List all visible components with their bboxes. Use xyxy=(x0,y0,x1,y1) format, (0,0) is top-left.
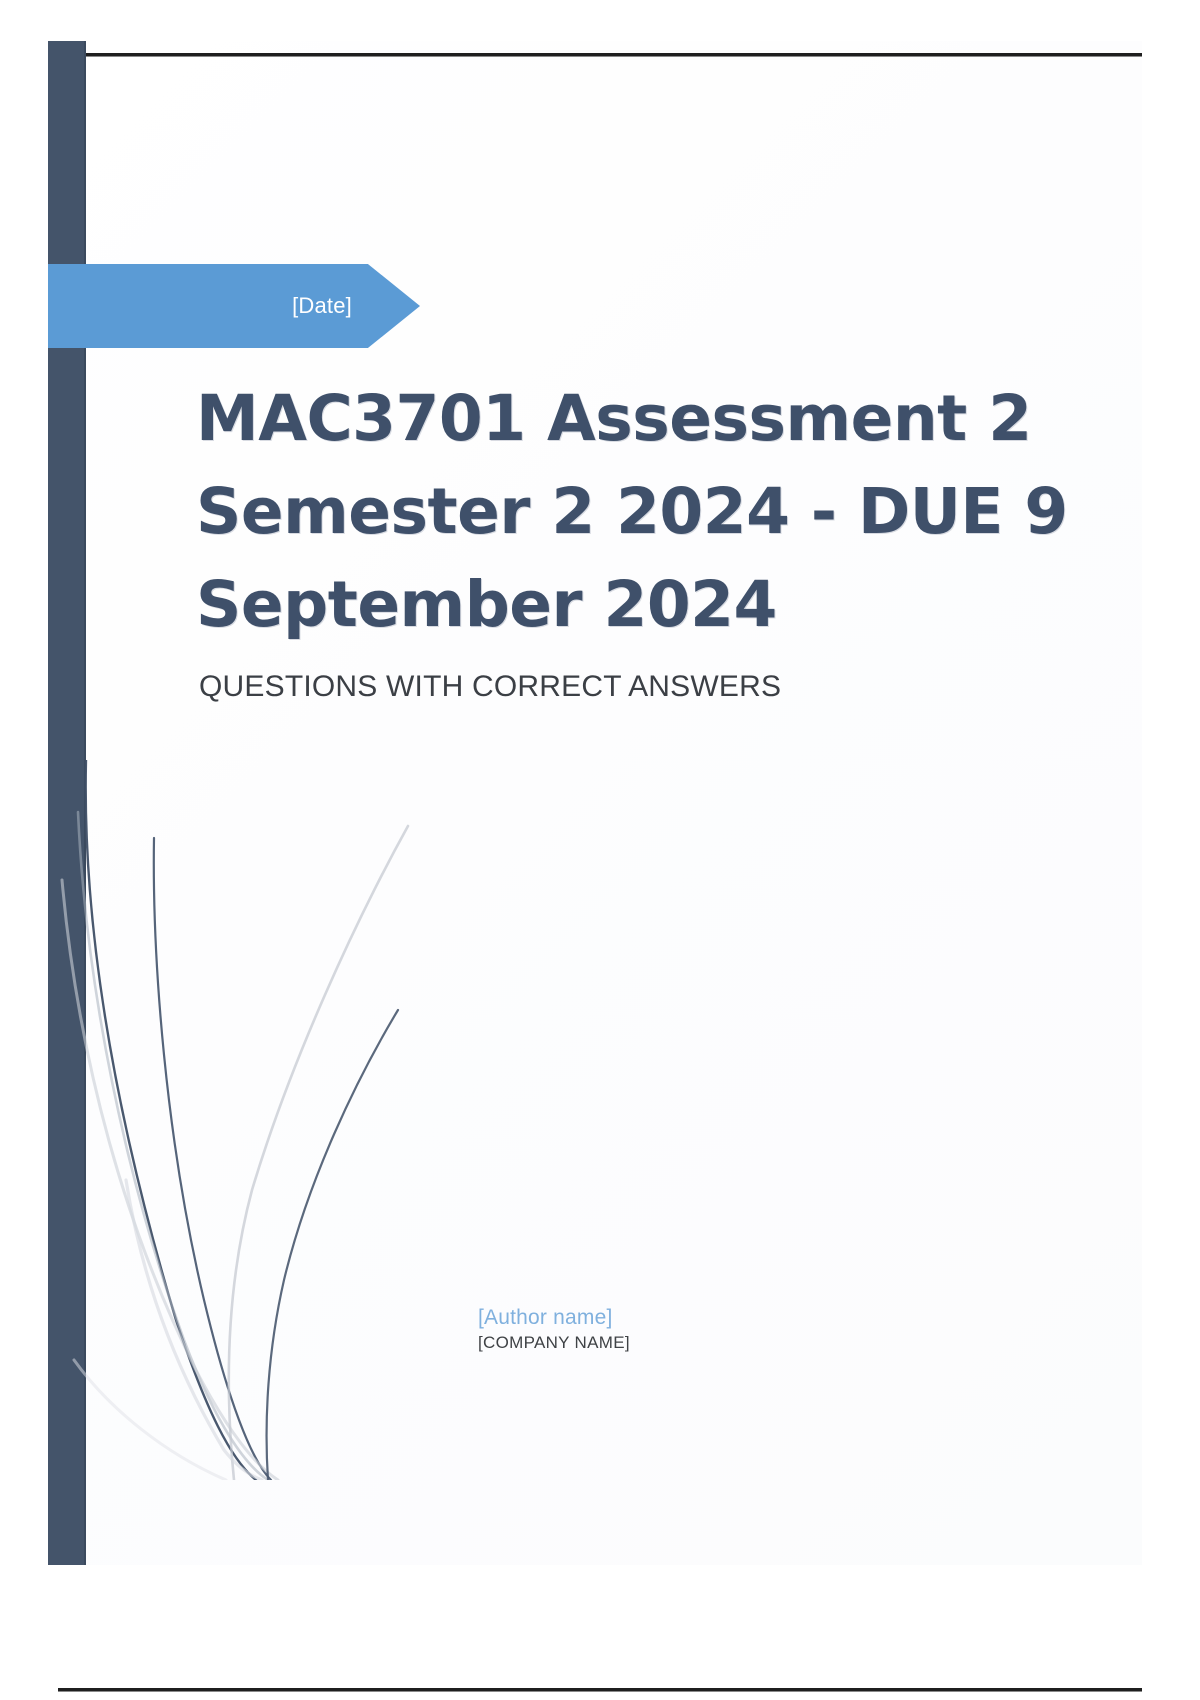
top-horizontal-rule xyxy=(84,53,1142,56)
title-block: MAC3701 Assessment 2 Semester 2 2024 - D… xyxy=(196,372,1096,705)
company-name-placeholder[interactable]: [COMPANY NAME] xyxy=(478,1332,898,1354)
document-title: MAC3701 Assessment 2 Semester 2 2024 - D… xyxy=(196,372,1096,651)
bottom-horizontal-rule xyxy=(58,1688,1142,1691)
document-page: [Date] MAC3701 Assessment 2 Semester 2 2… xyxy=(0,0,1200,1700)
author-block: [Author name] [COMPANY NAME] xyxy=(478,1305,898,1354)
author-name-placeholder[interactable]: [Author name] xyxy=(478,1305,898,1331)
date-banner[interactable]: [Date] xyxy=(48,264,420,348)
date-placeholder-text: [Date] xyxy=(292,293,352,319)
document-subtitle: QUESTIONS WITH CORRECT ANSWERS xyxy=(199,669,1096,705)
